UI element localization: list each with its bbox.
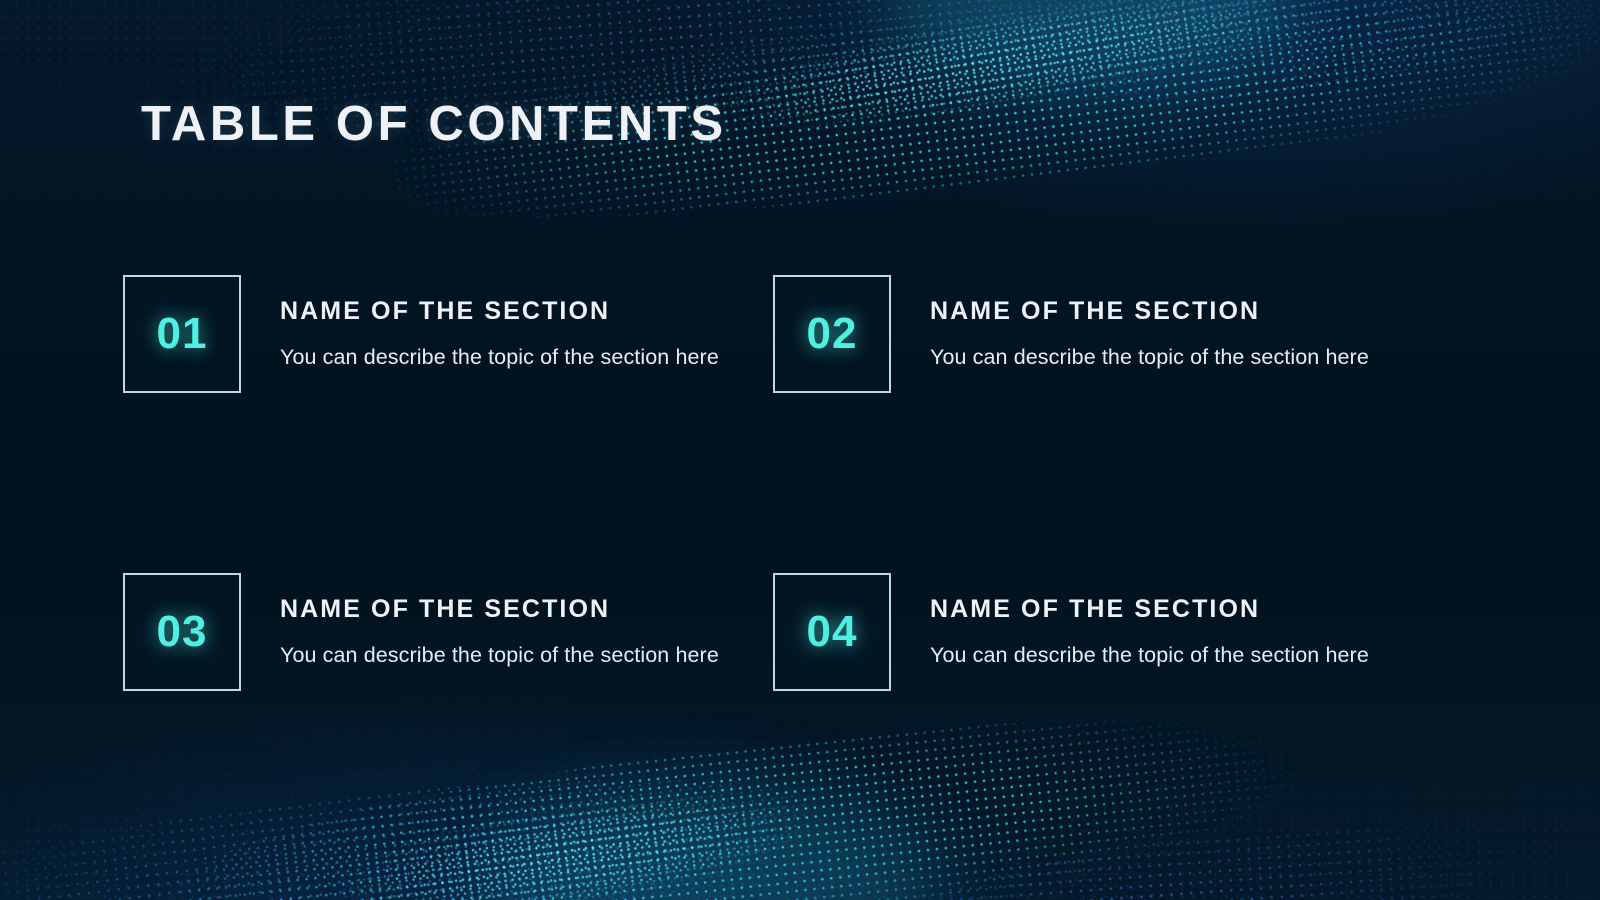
toc-item-03[interactable]: 03 NAME OF THE SECTION You can describe … [123,573,773,691]
slide-content: TABLE OF CONTENTS 01 NAME OF THE SECTION… [0,0,1600,900]
section-description: You can describe the topic of the sectio… [280,340,732,375]
section-description: You can describe the topic of the sectio… [930,340,1382,375]
number-box-01: 01 [123,275,241,393]
number-box-03: 03 [123,573,241,691]
toc-item-text-04: NAME OF THE SECTION You can describe the… [930,573,1382,673]
section-title: NAME OF THE SECTION [930,297,1382,326]
table-of-contents-grid: 01 NAME OF THE SECTION You can describe … [123,275,1423,691]
number-box-04: 04 [773,573,891,691]
number-label: 03 [157,610,208,654]
section-description: You can describe the topic of the sectio… [930,638,1382,673]
number-box-02: 02 [773,275,891,393]
number-label: 04 [807,610,858,654]
section-description: You can describe the topic of the sectio… [280,638,732,673]
toc-item-text-03: NAME OF THE SECTION You can describe the… [280,573,732,673]
section-title: NAME OF THE SECTION [280,297,732,326]
toc-item-02[interactable]: 02 NAME OF THE SECTION You can describe … [773,275,1423,573]
toc-item-04[interactable]: 04 NAME OF THE SECTION You can describe … [773,573,1423,691]
number-label: 01 [157,312,208,356]
presentation-slide: TABLE OF CONTENTS 01 NAME OF THE SECTION… [0,0,1600,900]
section-title: NAME OF THE SECTION [280,595,732,624]
number-label: 02 [807,312,858,356]
toc-item-text-02: NAME OF THE SECTION You can describe the… [930,275,1382,375]
page-title: TABLE OF CONTENTS [141,96,727,152]
toc-item-text-01: NAME OF THE SECTION You can describe the… [280,275,732,375]
section-title: NAME OF THE SECTION [930,595,1382,624]
toc-item-01[interactable]: 01 NAME OF THE SECTION You can describe … [123,275,773,573]
